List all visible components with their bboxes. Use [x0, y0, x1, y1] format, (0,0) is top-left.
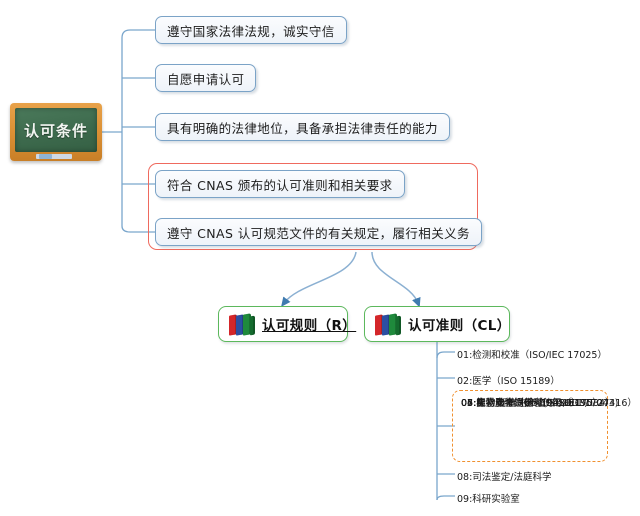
criteria-item-08[interactable]: 08:司法鉴定/法庭科学: [457, 469, 552, 483]
condition-label: 自愿申请认可: [167, 69, 244, 88]
criteria-item-02[interactable]: 02:医学（ISO 15189）: [457, 373, 560, 387]
document-node-label: 认可准则（CL）: [408, 314, 511, 334]
mindmap-canvas: 认可条件 遵守国家法律法规，诚实守信 自愿申请认可 具有明确的法律地位，具备承担…: [0, 0, 640, 516]
chalk-tray-icon: [36, 154, 72, 159]
condition-label: 遵守国家法律法规，诚实守信: [167, 21, 335, 40]
criteria-item-07[interactable]: 07:医学参考测量（ISO 15195）: [461, 395, 602, 409]
criteria-item-01[interactable]: 01:检测和校准（ISO/IEC 17025）: [457, 347, 607, 361]
chalkboard-slate: 认可条件: [15, 108, 97, 152]
condition-node-1[interactable]: 遵守国家法律法规，诚实守信: [155, 16, 347, 44]
document-node-criteria[interactable]: 认可准则（CL）: [364, 306, 510, 342]
books-icon: [375, 313, 401, 335]
condition-node-4[interactable]: 符合 CNAS 颁布的认可准则和相关要求: [155, 170, 405, 198]
condition-node-3[interactable]: 具有明确的法律地位，具备承担法律责任的能力: [155, 113, 450, 141]
document-node-label: 认可规则（R）: [262, 314, 356, 334]
books-icon: [229, 313, 255, 335]
condition-label: 具有明确的法律地位，具备承担法律责任的能力: [167, 118, 438, 137]
condition-label: 符合 CNAS 颁布的认可准则和相关要求: [167, 175, 393, 194]
condition-label: 遵守 CNAS 认可规范文件的有关规定，履行相关义务: [167, 223, 470, 242]
condition-node-5[interactable]: 遵守 CNAS 认可规范文件的有关规定，履行相关义务: [155, 218, 482, 246]
criteria-item-09[interactable]: 09:科研实验室: [457, 491, 520, 505]
root-node-label: 认可条件: [24, 120, 88, 141]
root-node-chalkboard[interactable]: 认可条件: [10, 103, 102, 161]
condition-node-2[interactable]: 自愿申请认可: [155, 64, 256, 92]
document-node-rules[interactable]: 认可规则（R）: [218, 306, 348, 342]
